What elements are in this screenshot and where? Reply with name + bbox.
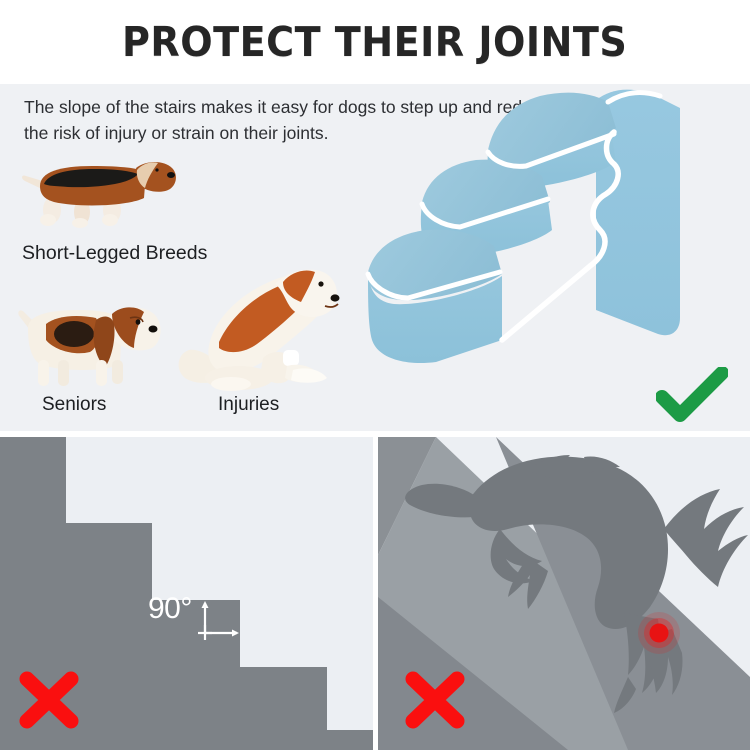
green-check-icon [656,367,728,423]
dachshund-dog-illustration [20,154,180,229]
dog-label-seniors: Seniors [42,394,106,416]
red-x-icon [404,670,466,730]
infographic-page: PROTECT THEIR JOINTS The slope of the st… [0,0,750,750]
dog-label-injuries: Injuries [218,394,279,416]
page-title: PROTECT THEIR JOINTS [122,18,627,66]
blue-foam-pet-stairs-illustration [360,84,705,408]
header-banner: PROTECT THEIR JOINTS [0,0,750,84]
steep-ramp-warning-panel [378,437,750,750]
basset-hound-dog-illustration [12,294,170,392]
steep-stairs-warning-panel: 90° [0,437,373,750]
red-injury-dot [638,612,680,654]
red-x-icon [18,670,80,730]
benefit-panel: The slope of the stairs makes it easy fo… [0,84,750,431]
angle-annotation-label: 90° [148,592,192,626]
sitting-terrier-dog-illustration [175,262,355,392]
